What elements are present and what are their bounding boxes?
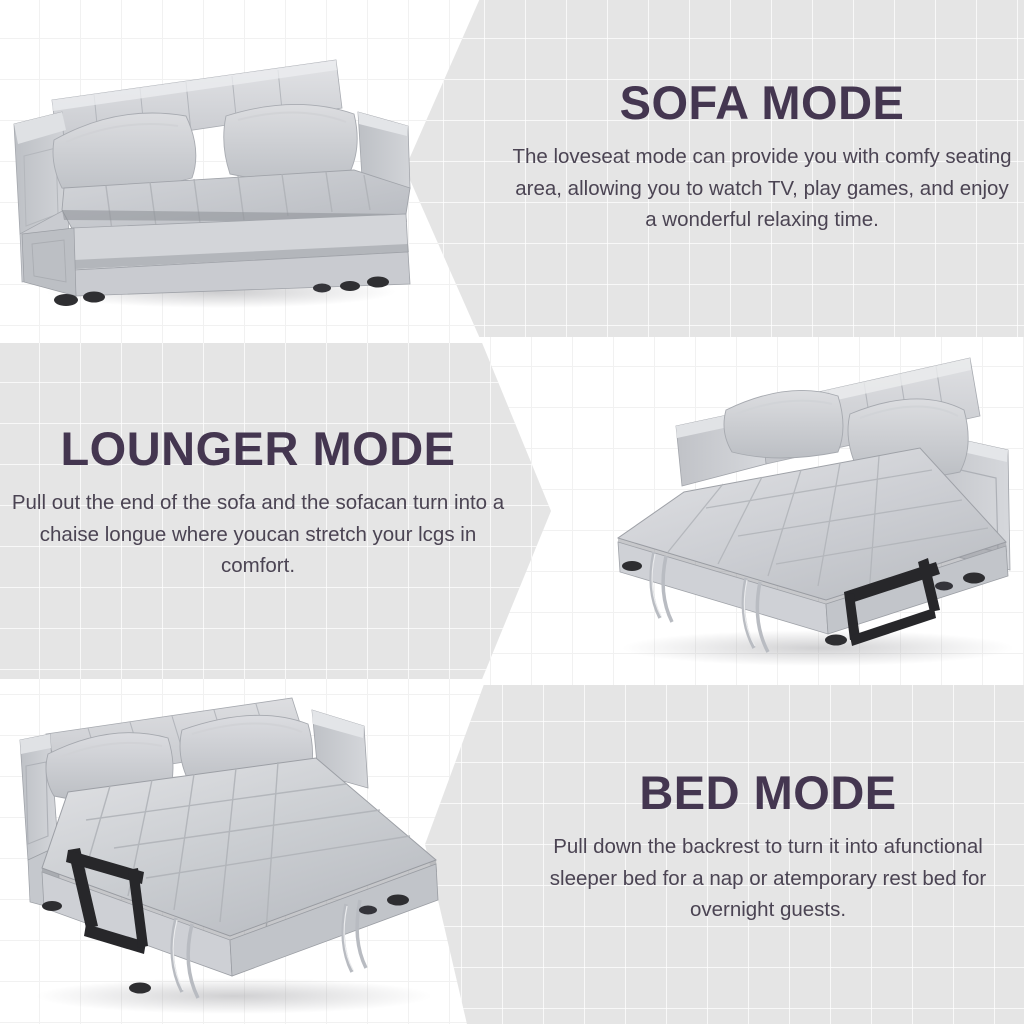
lounger-mode-description: Pull out the end of the sofa and the sof… [8,487,508,580]
sofa-mode-description: The loveseat mode can provide you with c… [512,141,1012,234]
bed-mode-heading: BED MODE [520,768,1016,817]
bed-mode-description: Pull down the backrest to turn it into a… [520,831,1016,924]
infographic-page: SOFA MODE The loveseat mode can provide … [0,0,1024,1024]
sofa-mode-heading: SOFA MODE [512,78,1012,127]
lounger-mode-text-block: LOUNGER MODE Pull out the end of the sof… [8,424,508,581]
sofa-mode-image [6,38,424,310]
bed-mode-text-block: BED MODE Pull down the backrest to turn … [520,768,1016,925]
lounger-mode-heading: LOUNGER MODE [8,424,508,473]
lounger-mode-image [588,352,1016,668]
sofa-mode-text-block: SOFA MODE The loveseat mode can provide … [512,78,1012,235]
bed-mode-image [16,696,444,1014]
